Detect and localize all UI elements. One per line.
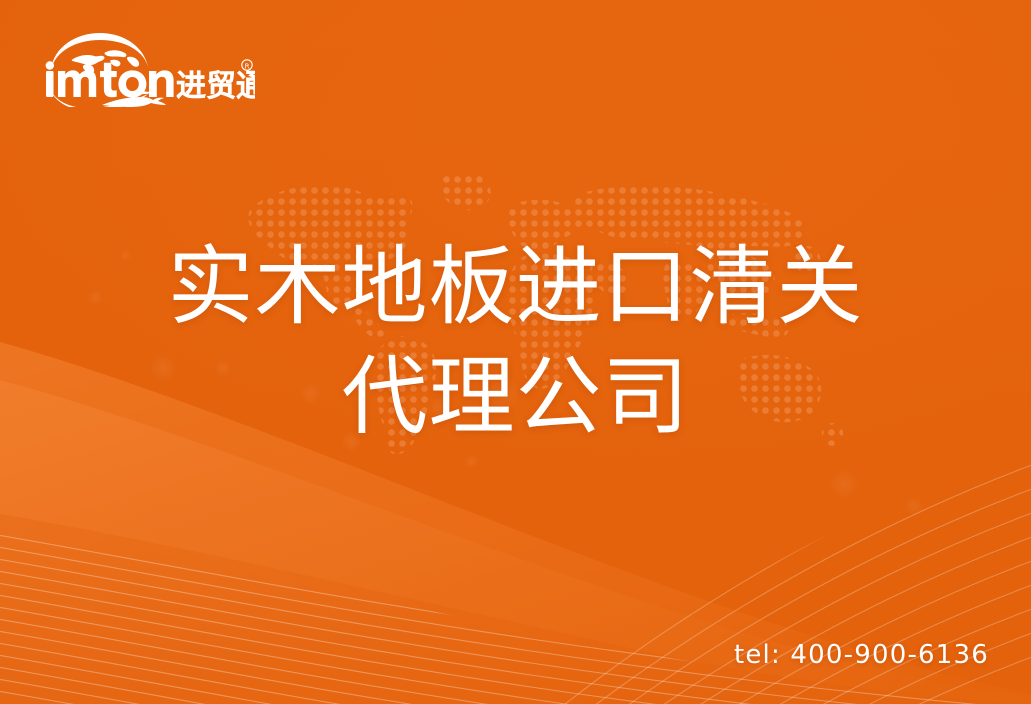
trademark-icon: R — [242, 60, 252, 71]
logo-artwork: 进贸通 R — [40, 27, 255, 107]
logo-chinese-name: 进贸通 — [176, 69, 255, 104]
promo-banner: 进贸通 R 实木地板进口清关 代理公司 tel: 400-900-6136 — [0, 0, 1031, 704]
brand-logo[interactable]: 进贸通 R — [40, 27, 255, 107]
contact-phone[interactable]: tel: 400-900-6136 — [734, 640, 989, 670]
logo-wordmark-imton — [46, 61, 174, 97]
svg-text:R: R — [245, 63, 250, 71]
logo-chinese-text: 进贸通 — [176, 69, 255, 104]
title-line-2: 代理公司 — [0, 342, 1031, 452]
title-line-1: 实木地板进口清关 — [0, 232, 1031, 342]
page-title: 实木地板进口清关 代理公司 — [0, 232, 1031, 452]
globe-icon — [51, 33, 148, 74]
